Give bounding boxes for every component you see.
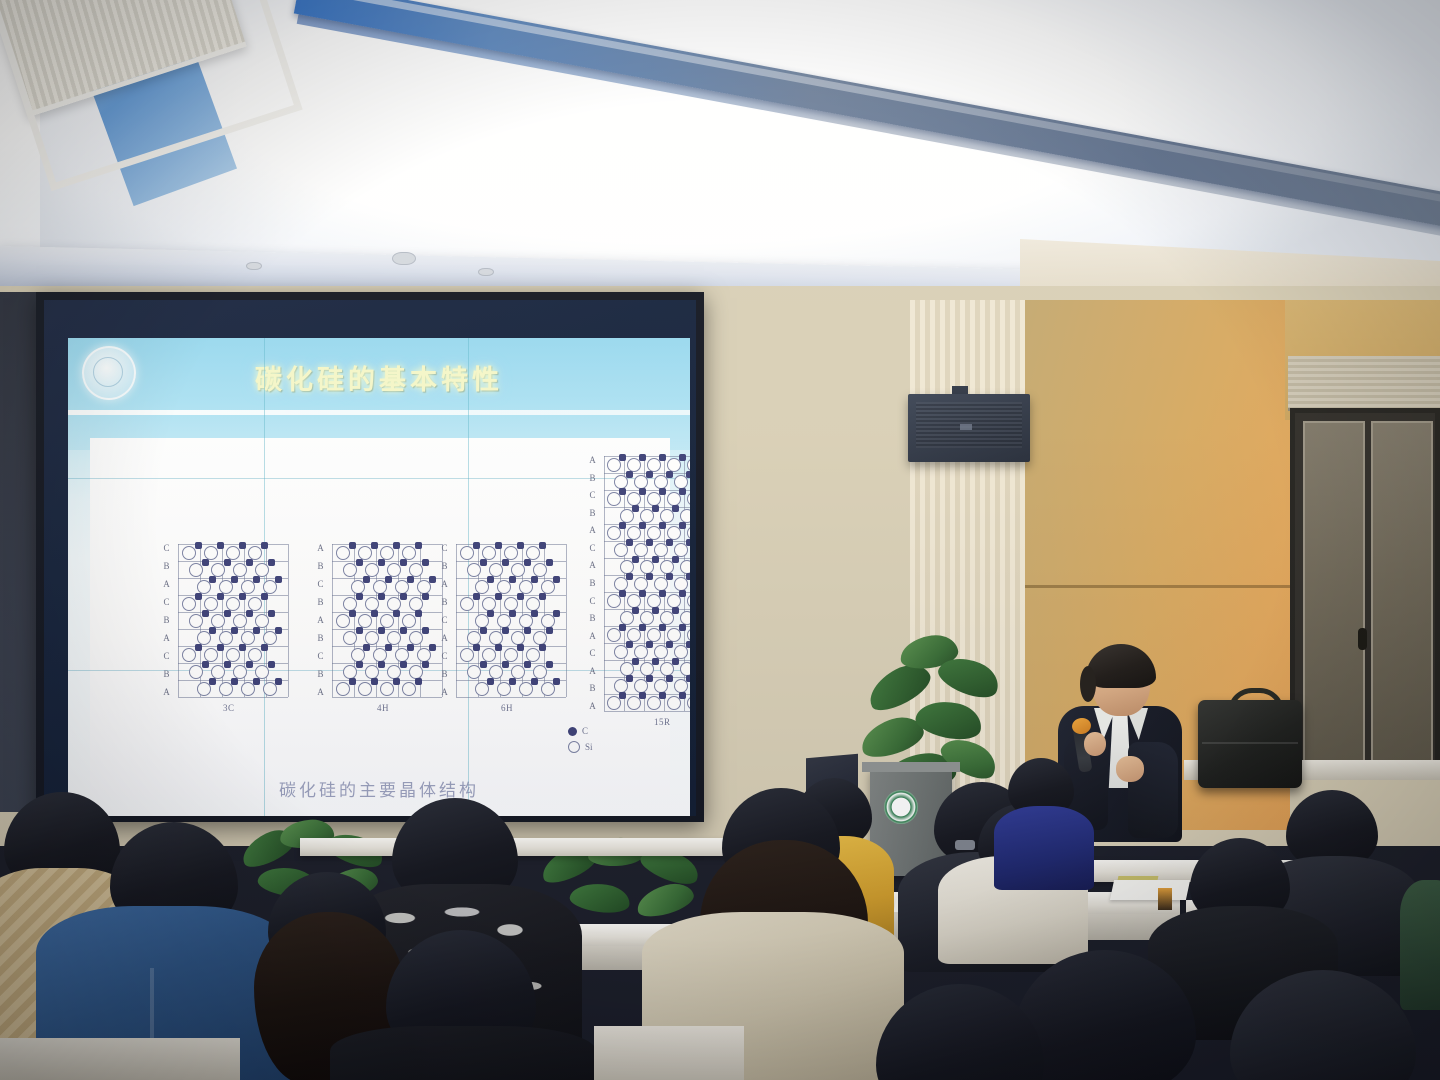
stacking-label: A: [589, 632, 596, 641]
atom-c: [686, 539, 690, 546]
stacking-label: C: [163, 652, 169, 661]
atom-c: [666, 641, 673, 648]
atom-c: [202, 610, 209, 617]
atom-c: [553, 576, 560, 583]
grid-line: [604, 626, 690, 627]
atom-si: [336, 682, 350, 696]
atom-c: [639, 454, 646, 461]
stacking-label: A: [441, 688, 448, 697]
atom-si: [204, 597, 218, 611]
atom-si: [248, 546, 262, 560]
atom-si: [402, 682, 416, 696]
stacking-sequence-labels: CBACBACBA: [160, 544, 173, 697]
atom-c: [509, 610, 516, 617]
atom-si: [336, 546, 350, 560]
stacking-label: A: [589, 702, 596, 711]
speaker-led-icon: [960, 424, 972, 430]
stacking-label: A: [441, 580, 448, 589]
stacking-label: B: [317, 562, 323, 571]
grid-line: [604, 711, 690, 712]
atom-c: [349, 542, 356, 549]
atom-c: [480, 627, 487, 634]
stacking-label: B: [317, 598, 323, 607]
atom-si: [380, 546, 394, 560]
atom-c: [679, 624, 686, 631]
atom-c: [539, 542, 546, 549]
atom-c: [195, 542, 202, 549]
atom-si: [482, 546, 496, 560]
atom-c: [356, 559, 363, 566]
atom-c: [378, 627, 385, 634]
atom-c: [495, 542, 502, 549]
stacking-label: C: [589, 491, 595, 500]
atom-c: [378, 593, 385, 600]
stacking-label: A: [589, 561, 596, 570]
stacking-label: C: [317, 652, 323, 661]
atom-c: [400, 593, 407, 600]
atom-c: [502, 661, 509, 668]
stacking-label: A: [317, 616, 324, 625]
atom-c: [659, 590, 666, 597]
briefcase-seam: [1202, 742, 1298, 744]
atom-c: [473, 593, 480, 600]
atom-si: [687, 458, 690, 472]
crystal-structure-figure: CBACBACBA3CABCBABCBA4HCBABCACBA6HABCBACA…: [68, 338, 690, 816]
atom-si: [460, 648, 474, 662]
atom-c: [502, 627, 509, 634]
atom-c: [209, 678, 216, 685]
atom-c: [546, 661, 553, 668]
atom-c: [646, 641, 653, 648]
atom-si: [687, 628, 690, 642]
atom-si: [687, 696, 690, 710]
atom-c: [246, 661, 253, 668]
atom-c: [626, 675, 633, 682]
atom-si: [204, 546, 218, 560]
atom-c: [393, 542, 400, 549]
atom-c: [363, 644, 370, 651]
atom-c: [217, 644, 224, 651]
atom-c: [652, 607, 659, 614]
atom-c: [349, 610, 356, 617]
atom-c: [502, 559, 509, 566]
atom-c: [473, 644, 480, 651]
atom-si: [380, 614, 394, 628]
atom-c: [400, 627, 407, 634]
stacking-label: B: [163, 616, 169, 625]
atom-c: [524, 559, 531, 566]
atom-c: [546, 559, 553, 566]
stacking-label: A: [589, 667, 596, 676]
atom-c: [349, 678, 356, 685]
atom-c: [356, 661, 363, 668]
atom-c: [546, 627, 553, 634]
atom-c: [659, 488, 666, 495]
atom-c: [429, 644, 436, 651]
atom-c: [539, 644, 546, 651]
atom-c: [239, 644, 246, 651]
atom-c: [626, 573, 633, 580]
stacking-label: B: [317, 670, 323, 679]
notebook: [1110, 880, 1190, 900]
stacking-label: B: [441, 670, 447, 679]
atom-c: [246, 559, 253, 566]
grid-line: [456, 544, 457, 697]
atom-c: [659, 454, 666, 461]
stacking-label: A: [589, 526, 596, 535]
atom-c: [224, 559, 231, 566]
atom-c: [652, 556, 659, 563]
desk: [300, 838, 740, 856]
atom-si: [526, 648, 540, 662]
atom-c: [531, 576, 538, 583]
atom-c: [231, 576, 238, 583]
panel-label-4H: 4H: [377, 703, 389, 713]
atom-c: [487, 610, 494, 617]
wall-seam: [1025, 585, 1290, 588]
filled-dot-icon: [568, 727, 577, 736]
glasses-icon: [955, 840, 975, 850]
atom-si: [680, 662, 690, 676]
atom-c: [275, 627, 282, 634]
atom-c: [371, 542, 378, 549]
atom-c: [261, 542, 268, 549]
legend-item-c: C: [568, 726, 593, 736]
atom-c: [632, 505, 639, 512]
stacking-label: C: [163, 544, 169, 553]
grid-line: [604, 456, 690, 457]
grid-line: [178, 544, 179, 697]
atom-c: [393, 610, 400, 617]
ceiling-fixture-icon: [246, 262, 262, 270]
podium-top: [862, 762, 960, 772]
audience-body-blue: [994, 806, 1094, 890]
atom-c: [224, 610, 231, 617]
atom-si: [460, 546, 474, 560]
atom-si: [226, 546, 240, 560]
atom-c: [619, 624, 626, 631]
atom-c: [253, 678, 260, 685]
atom-c: [422, 627, 429, 634]
atom-c: [639, 624, 646, 631]
stacking-label: B: [441, 598, 447, 607]
atom-si: [358, 546, 372, 560]
atom-c: [393, 678, 400, 685]
stacking-label: A: [317, 544, 324, 553]
atom-si: [504, 546, 518, 560]
atom-c: [385, 644, 392, 651]
atom-si: [336, 614, 350, 628]
atom-c: [679, 454, 686, 461]
grid-line: [178, 697, 288, 698]
atom-c: [531, 678, 538, 685]
atom-c: [487, 576, 494, 583]
atom-c: [509, 576, 516, 583]
atom-si: [358, 614, 372, 628]
atom-c: [231, 678, 238, 685]
stacking-label: A: [317, 688, 324, 697]
ceiling-fixture-icon: [478, 268, 494, 276]
legend-label-c: C: [582, 726, 588, 736]
atom-si: [204, 648, 218, 662]
pen: [1158, 888, 1172, 910]
stacking-label: B: [589, 579, 595, 588]
presentation-slide: 碳化硅的基本特性 CBACBACBA3CABCBABCBA4HCBABCACBA…: [68, 338, 690, 816]
atom-c: [531, 610, 538, 617]
figure-legend: C Si: [568, 726, 593, 758]
stacking-label: B: [589, 614, 595, 623]
atom-si: [402, 546, 416, 560]
stacking-label: B: [163, 562, 169, 571]
legend-item-si: Si: [568, 741, 593, 753]
atom-c: [202, 661, 209, 668]
atom-c: [619, 590, 626, 597]
atom-c: [268, 610, 275, 617]
stacking-sequence-labels: ABCBABCBA: [314, 544, 327, 697]
atom-c: [480, 559, 487, 566]
window[interactable]: [1290, 408, 1440, 780]
grid-line: [604, 490, 690, 491]
atom-si: [380, 682, 394, 696]
desk-front: [594, 1026, 744, 1080]
atom-c: [275, 576, 282, 583]
lecture-hall-scene: 碳化硅的基本特性 CBACBACBA3CABCBABCBA4HCBABCACBA…: [0, 0, 1440, 1080]
stacking-label: A: [441, 634, 448, 643]
atom-c: [195, 593, 202, 600]
atom-c: [639, 692, 646, 699]
window-handle[interactable]: [1358, 628, 1367, 650]
window-pane-left: [1303, 421, 1365, 773]
grid-line: [288, 544, 289, 697]
stacking-sequence-labels: ABCBACABCBACABA: [586, 456, 599, 711]
atom-c: [639, 488, 646, 495]
lattice-grid: [178, 544, 288, 697]
presenter-hand: [1116, 756, 1144, 782]
slide-caption: 碳化硅的主要晶体结构: [68, 776, 690, 801]
atom-c: [553, 678, 560, 685]
stacking-label: C: [441, 544, 447, 553]
plant-leaf: [568, 880, 631, 916]
atom-c: [619, 488, 626, 495]
atom-c: [239, 542, 246, 549]
atom-c: [261, 644, 268, 651]
pen: [1118, 876, 1159, 880]
atom-c: [626, 471, 633, 478]
stacking-label: A: [163, 580, 170, 589]
atom-c: [378, 661, 385, 668]
lattice-grid: [604, 456, 690, 711]
atom-c: [639, 590, 646, 597]
atom-si: [248, 648, 262, 662]
atom-c: [415, 610, 422, 617]
atom-c: [632, 658, 639, 665]
atom-c: [686, 471, 690, 478]
grid-line: [566, 544, 567, 697]
atom-c: [652, 658, 659, 665]
atom-c: [268, 661, 275, 668]
atom-c: [400, 559, 407, 566]
atom-c: [217, 593, 224, 600]
lattice-grid: [332, 544, 442, 697]
atom-si: [680, 611, 690, 625]
stacking-label: C: [441, 652, 447, 661]
atom-c: [363, 576, 370, 583]
atom-c: [209, 576, 216, 583]
stacking-label: C: [589, 649, 595, 658]
atom-c: [639, 522, 646, 529]
briefcase: [1198, 700, 1302, 788]
atom-si: [226, 597, 240, 611]
atom-c: [646, 471, 653, 478]
atom-c: [524, 661, 531, 668]
atom-si: [182, 597, 196, 611]
atom-c: [246, 610, 253, 617]
atom-si: [182, 546, 196, 560]
atom-c: [646, 675, 653, 682]
atom-c: [487, 678, 494, 685]
atom-c: [422, 661, 429, 668]
atom-si: [482, 597, 496, 611]
legend-label-si: Si: [585, 742, 593, 752]
atom-c: [672, 556, 679, 563]
audience-green-jacket: [1400, 880, 1440, 1010]
smoke-detector-icon: [392, 252, 416, 265]
grid-line: [604, 694, 690, 695]
atom-c: [415, 542, 422, 549]
atom-c: [524, 627, 531, 634]
audience-body: [330, 1026, 596, 1080]
atom-c: [385, 576, 392, 583]
atom-c: [672, 505, 679, 512]
stacking-label: C: [589, 597, 595, 606]
atom-si: [680, 509, 690, 523]
atom-c: [517, 644, 524, 651]
atom-c: [400, 661, 407, 668]
grid-line: [604, 592, 690, 593]
atom-c: [679, 522, 686, 529]
atom-c: [619, 692, 626, 699]
panel-label-6H: 6H: [501, 703, 513, 713]
panel-label-15R: 15R: [654, 717, 671, 727]
atom-c: [659, 624, 666, 631]
atom-c: [646, 573, 653, 580]
atom-c: [407, 644, 414, 651]
atom-si: [226, 648, 240, 662]
atom-c: [509, 678, 516, 685]
atom-si: [687, 492, 690, 506]
atom-c: [632, 607, 639, 614]
atom-si: [504, 597, 518, 611]
stacking-label: C: [163, 598, 169, 607]
atom-c: [517, 593, 524, 600]
stacking-label: A: [163, 634, 170, 643]
atom-si: [526, 546, 540, 560]
atom-c: [495, 593, 502, 600]
atom-c: [679, 692, 686, 699]
presenter-hand: [1084, 732, 1106, 756]
atom-si: [182, 648, 196, 662]
atom-c: [517, 542, 524, 549]
atom-c: [268, 559, 275, 566]
atom-c: [686, 573, 690, 580]
atom-c: [679, 590, 686, 597]
stacking-label: A: [163, 688, 170, 697]
plant-leaf: [633, 879, 696, 922]
stacking-label: C: [317, 580, 323, 589]
atom-c: [275, 678, 282, 685]
open-circle-icon: [568, 741, 580, 753]
atom-c: [626, 539, 633, 546]
atom-c: [666, 675, 673, 682]
atom-c: [371, 678, 378, 685]
atom-c: [356, 627, 363, 634]
atom-c: [666, 539, 673, 546]
stacking-label: B: [441, 562, 447, 571]
stacking-label: C: [441, 616, 447, 625]
atom-c: [209, 627, 216, 634]
desk-front: [0, 1038, 240, 1080]
atom-c: [652, 505, 659, 512]
stacking-label: C: [589, 544, 595, 553]
atom-c: [239, 593, 246, 600]
atom-c: [672, 658, 679, 665]
plant-leaf: [913, 696, 985, 745]
atom-si: [526, 597, 540, 611]
atom-c: [422, 559, 429, 566]
stacking-label: B: [163, 670, 169, 679]
atom-c: [632, 556, 639, 563]
stacking-label: B: [317, 634, 323, 643]
grid-line: [604, 456, 605, 711]
atom-c: [202, 559, 209, 566]
atom-c: [686, 641, 690, 648]
grid-line: [332, 697, 442, 698]
atom-c: [378, 559, 385, 566]
atom-si: [680, 560, 690, 574]
lattice-grid: [456, 544, 566, 697]
atom-c: [195, 644, 202, 651]
atom-si: [687, 594, 690, 608]
grid-line: [604, 524, 690, 525]
atom-c: [686, 675, 690, 682]
atom-c: [422, 593, 429, 600]
atom-c: [473, 542, 480, 549]
atom-c: [231, 627, 238, 634]
atom-si: [504, 648, 518, 662]
grid-line: [456, 697, 566, 698]
atom-c: [539, 593, 546, 600]
atom-c: [626, 641, 633, 648]
atom-c: [495, 644, 502, 651]
atom-c: [261, 593, 268, 600]
presenter-hair-side: [1080, 666, 1096, 702]
podium-emblem-icon: [884, 790, 918, 824]
stacking-label: A: [589, 456, 596, 465]
atom-c: [480, 661, 487, 668]
atom-si: [358, 682, 372, 696]
atom-c: [253, 627, 260, 634]
atom-c: [224, 661, 231, 668]
atom-c: [415, 678, 422, 685]
panel-label-3C: 3C: [223, 703, 235, 713]
atom-c: [429, 576, 436, 583]
atom-c: [659, 692, 666, 699]
atom-c: [666, 573, 673, 580]
atom-c: [666, 471, 673, 478]
atom-c: [659, 522, 666, 529]
window-pane-right: [1371, 421, 1433, 773]
roller-blind[interactable]: [1288, 356, 1440, 411]
